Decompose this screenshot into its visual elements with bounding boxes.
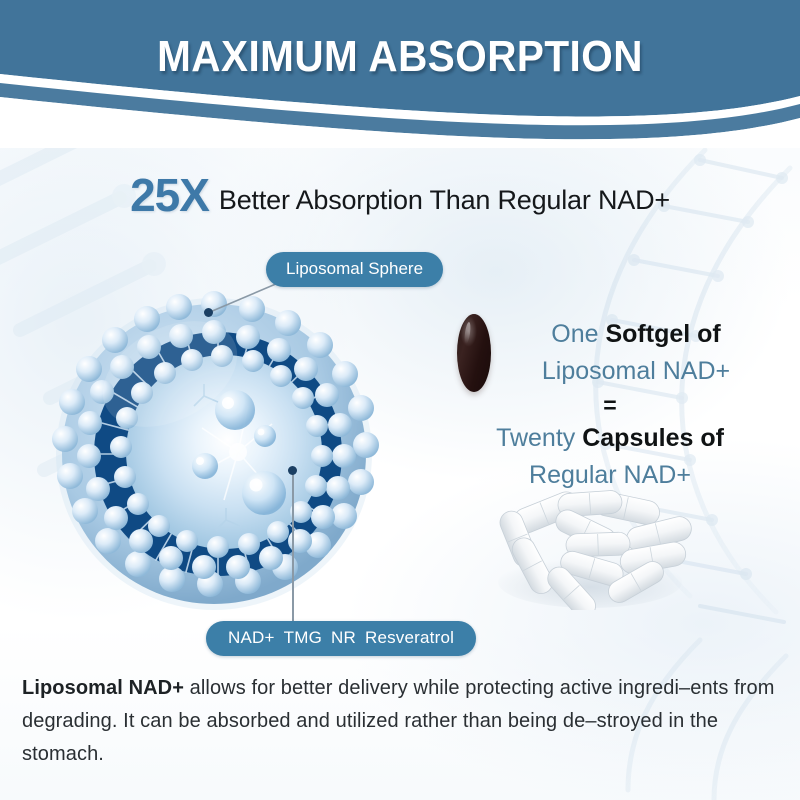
body-lead-term: Liposomal NAD+ [22, 677, 184, 699]
callout-ingredients[interactable]: NAD+TMGNRResveratrol [206, 621, 476, 656]
equation-line-1: One Softgel of [440, 316, 780, 353]
callout-liposomal-sphere[interactable]: Liposomal Sphere [266, 252, 443, 287]
callout-top-anchor-dot [204, 308, 213, 317]
equation-line-3: Twenty Capsules of [440, 420, 780, 457]
equation-twenty: Twenty [496, 424, 575, 452]
callout-bottom-leader-line [292, 472, 294, 622]
equation-softgel-of: Softgel of [605, 320, 720, 348]
page-title: MAXIMUM ABSORPTION [32, 32, 768, 82]
equation-one: One [551, 320, 598, 348]
body-paragraph: Liposomal NAD+ allows for better deliver… [22, 672, 782, 771]
absorption-multiplier: 25X [130, 169, 209, 221]
ingredient-nr: NR [331, 628, 356, 647]
ingredient-nad: NAD+ [228, 628, 275, 647]
equation-line-2: Liposomal NAD+ [440, 353, 780, 390]
equation-capsules-of: Capsules of [582, 424, 724, 452]
headline: 25XBetter Absorption Than Regular NAD+ [0, 168, 800, 222]
equals-sign: = [440, 390, 780, 420]
headline-subtext: Better Absorption Than Regular NAD+ [219, 185, 670, 215]
infographic-page: MAXIMUM ABSORPTION 25XBetter Absorption … [0, 0, 800, 800]
ingredient-resveratrol: Resveratrol [365, 628, 454, 647]
callout-bottom-anchor-dot [288, 466, 297, 475]
white-capsules-pile-illustration [486, 482, 696, 610]
callout-liposomal-sphere-label: Liposomal Sphere [286, 259, 423, 278]
liposome-cross-section-illustration [52, 288, 392, 618]
equation-liposomal-nad: Liposomal NAD+ [542, 357, 730, 385]
dosage-equivalence: One Softgel of Liposomal NAD+ = Twenty C… [440, 316, 780, 494]
ingredient-tmg: TMG [284, 628, 322, 647]
